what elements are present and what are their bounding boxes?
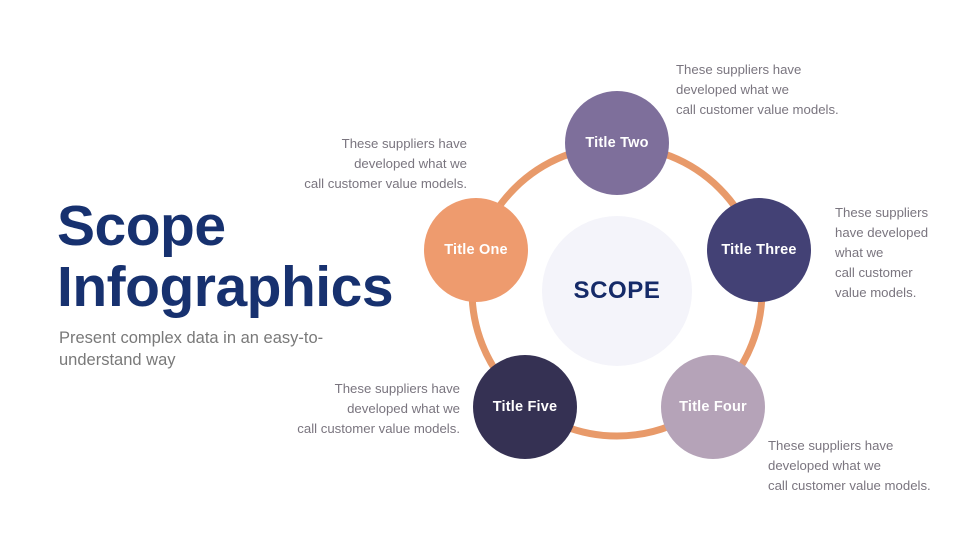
node-title-one[interactable]: Title One (424, 198, 528, 302)
node-title-one-label: Title One (444, 242, 508, 258)
caption-title-four: These suppliers have developed what we c… (768, 436, 980, 496)
scope-cycle-diagram: SCOPE Title One Title Two Title Three Ti… (0, 0, 980, 551)
node-title-four[interactable]: Title Four (661, 355, 765, 459)
node-title-four-label: Title Four (679, 399, 747, 415)
center-node-scope[interactable]: SCOPE (542, 216, 692, 366)
node-title-three[interactable]: Title Three (707, 198, 811, 302)
node-title-two-label: Title Two (585, 135, 648, 151)
slide-canvas: Scope Infographics Present complex data … (0, 0, 980, 551)
node-title-two[interactable]: Title Two (565, 91, 669, 195)
node-title-five-label: Title Five (493, 399, 558, 415)
caption-title-five: These suppliers have developed what we c… (238, 379, 460, 439)
center-node-label: SCOPE (573, 277, 660, 305)
node-title-three-label: Title Three (721, 242, 796, 258)
caption-title-three: These suppliers have developed what we c… (835, 203, 980, 303)
node-title-five[interactable]: Title Five (473, 355, 577, 459)
caption-title-two: These suppliers have developed what we c… (676, 60, 906, 120)
caption-title-one: These suppliers have developed what we c… (245, 134, 467, 194)
